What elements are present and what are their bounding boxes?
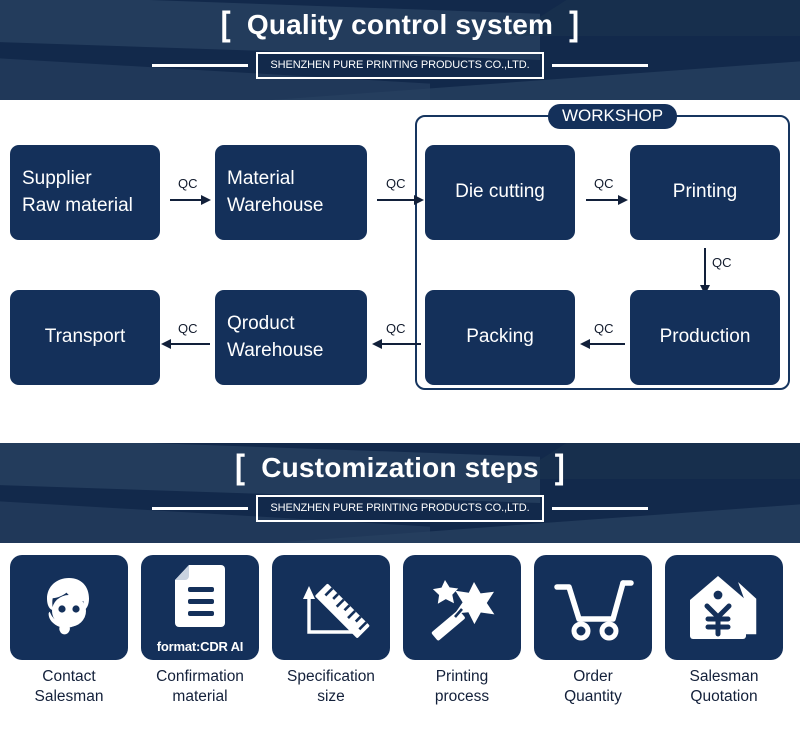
step-label: Specification size [272, 667, 390, 707]
company-name: SHENZHEN PURE PRINTING PRODUCTS CO.,LTD. [256, 495, 543, 522]
node-line-1: Supplier [22, 166, 92, 193]
rule-left [152, 507, 248, 510]
flow-arrow-supplier-to-material [170, 199, 202, 201]
node-line-1: Production [660, 324, 751, 351]
bracket-right: ] [569, 5, 579, 44]
step-label-line-1: Salesman [665, 667, 783, 687]
step-label-line-2: Quantity [534, 687, 652, 707]
step-label: Printing process [403, 667, 521, 707]
step-label-line-1: Specification [272, 667, 390, 687]
step-tile[interactable] [665, 555, 783, 660]
company-name: SHENZHEN PURE PRINTING PRODUCTS CO.,LTD. [256, 52, 543, 79]
flow-node-packing[interactable]: Packing [425, 290, 575, 385]
step-label-line-1: Contact [10, 667, 128, 687]
banner-subtitle-row: SHENZHEN PURE PRINTING PRODUCTS CO.,LTD. [0, 52, 800, 79]
step-tile[interactable] [534, 555, 652, 660]
step-tile[interactable] [403, 555, 521, 660]
node-line-1: Packing [466, 324, 534, 351]
step-label-line-2: Quotation [665, 687, 783, 707]
step-tile[interactable]: format:CDR AI [141, 555, 259, 660]
flow-arrow-material-to-workshop [377, 199, 415, 201]
qc-label-2: QC [386, 176, 406, 191]
flow-node-transport[interactable]: Transport [10, 290, 160, 385]
node-line-1: Qroduct [227, 311, 295, 338]
rule-right [552, 64, 648, 67]
step-card-confirmation-material[interactable]: format:CDR AI Confirmation material [141, 555, 259, 707]
node-line-1: Printing [673, 179, 737, 206]
section-title: [Customization steps] [0, 451, 800, 485]
qc-label-5: QC [594, 321, 614, 336]
step-card-salesman-quotation[interactable]: Salesman Quotation [665, 555, 783, 707]
step-label: Confirmation material [141, 667, 259, 707]
page-title-text: Quality control system [247, 9, 553, 40]
operator-headset-icon [10, 555, 128, 660]
flow-arrow-printing-to-production [704, 248, 706, 286]
step-label-line-1: Confirmation [141, 667, 259, 687]
node-line-1: Transport [45, 324, 126, 351]
qc-label-1: QC [178, 176, 198, 191]
flow-node-printing[interactable]: Printing [630, 145, 780, 240]
node-line-2: Warehouse [227, 193, 323, 220]
workshop-label: WORKSHOP [548, 104, 677, 129]
step-card-specification-size[interactable]: Specification size [272, 555, 390, 707]
customization-steps-banner: [Customization steps] SHENZHEN PURE PRIN… [0, 443, 800, 543]
bracket-left: [ [235, 448, 245, 487]
quality-control-banner: [Quality control system] SHENZHEN PURE P… [0, 0, 800, 100]
banner-subtitle-row: SHENZHEN PURE PRINTING PRODUCTS CO.,LTD. [0, 495, 800, 522]
flow-arrow-warehouse-to-transport [170, 343, 210, 345]
bracket-right: ] [555, 448, 565, 487]
flow-node-die-cutting[interactable]: Die cutting [425, 145, 575, 240]
step-label: Salesman Quotation [665, 667, 783, 707]
qc-label-4: QC [712, 255, 732, 270]
rule-left [152, 64, 248, 67]
price-tag-yen-icon [665, 555, 783, 660]
flow-node-production[interactable]: Production [630, 290, 780, 385]
step-label-line-1: Order [534, 667, 652, 687]
qc-label-6: QC [386, 321, 406, 336]
customization-steps-row: Contact Salesman format:CDR AI Confir [0, 555, 800, 737]
flow-node-supplier[interactable]: Supplier Raw material [10, 145, 160, 240]
node-line-1: Die cutting [455, 179, 545, 206]
section-title-text: Customization steps [261, 452, 539, 483]
step-label-line-2: process [403, 687, 521, 707]
node-line-2: Warehouse [227, 338, 323, 365]
node-line-1: Material [227, 166, 295, 193]
flow-arrow-production-to-packing [589, 343, 625, 345]
step-card-printing-process[interactable]: Printing process [403, 555, 521, 707]
qc-label-3: QC [594, 176, 614, 191]
step-card-contact-salesman[interactable]: Contact Salesman [10, 555, 128, 707]
node-line-2: Raw material [22, 193, 133, 220]
flow-arrow-packing-to-warehouse [381, 343, 421, 345]
flow-node-material-warehouse[interactable]: Material Warehouse [215, 145, 367, 240]
shopping-cart-icon [534, 555, 652, 660]
qc-label-7: QC [178, 321, 198, 336]
format-text: format:CDR AI [141, 639, 259, 654]
page-title: [Quality control system] [0, 8, 800, 42]
step-tile[interactable] [10, 555, 128, 660]
step-label: Contact Salesman [10, 667, 128, 707]
step-label-line-1: Printing [403, 667, 521, 687]
flow-arrow-diecutting-to-printing [586, 199, 619, 201]
step-label: Order Quantity [534, 667, 652, 707]
step-tile[interactable] [272, 555, 390, 660]
rule-right [552, 507, 648, 510]
ruler-icon [272, 555, 390, 660]
step-label-line-2: Salesman [10, 687, 128, 707]
step-label-line-2: size [272, 687, 390, 707]
step-label-line-2: material [141, 687, 259, 707]
step-card-order-quantity[interactable]: Order Quantity [534, 555, 652, 707]
magic-wand-icon [403, 555, 521, 660]
bracket-left: [ [221, 5, 231, 44]
flow-node-product-warehouse[interactable]: Qroduct Warehouse [215, 290, 367, 385]
quality-control-flowchart: WORKSHOP Supplier Raw material QC Materi… [0, 100, 800, 410]
